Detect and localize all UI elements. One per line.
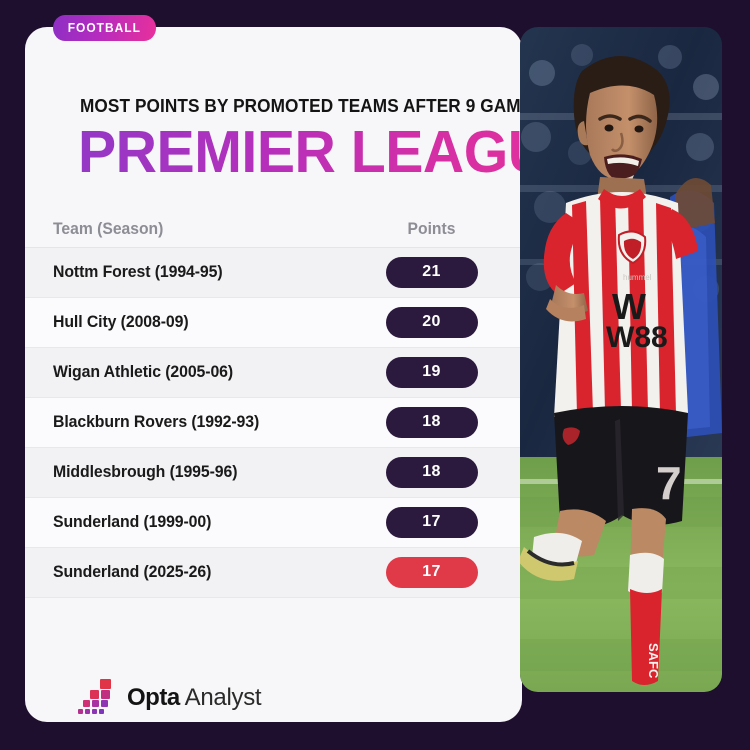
brand-name: Opta Analyst — [127, 684, 261, 715]
brand-analyst: Analyst — [185, 684, 262, 712]
brand-logo: Opta Analyst — [78, 679, 261, 715]
svg-text:hummel: hummel — [623, 273, 652, 282]
team-name: Sunderland (1999-00) — [53, 513, 356, 532]
column-header-points: Points — [372, 220, 491, 239]
team-name: Sunderland (2025-26) — [53, 563, 356, 582]
brand-opta: Opta — [127, 684, 180, 712]
points-badge: 18 — [386, 457, 478, 488]
svg-text:W88: W88 — [606, 321, 668, 354]
points-badge: 19 — [386, 357, 478, 388]
svg-text:7: 7 — [656, 457, 682, 509]
points-badge: 18 — [386, 407, 478, 438]
points-cell: 20 — [369, 307, 494, 338]
points-cell: 21 — [369, 257, 494, 288]
team-name: Middlesbrough (1995-96) — [53, 463, 356, 482]
points-cell: 18 — [369, 407, 494, 438]
points-cell: 17 — [369, 557, 494, 588]
stats-table: Team (Season) Points Nottm Forest (1994-… — [25, 212, 522, 598]
table-row-highlighted: Sunderland (2025-26) 17 — [25, 548, 522, 598]
player-photo: hummel W W88 7 SAFC — [520, 27, 722, 692]
points-cell: 19 — [369, 357, 494, 388]
team-name: Hull City (2008-09) — [53, 313, 356, 332]
points-badge: 17 — [386, 507, 478, 538]
points-cell: 17 — [369, 507, 494, 538]
table-row: Wigan Athletic (2005-06) 19 — [25, 348, 522, 398]
points-badge: 20 — [386, 307, 478, 338]
column-header-team: Team (Season) — [53, 220, 353, 239]
page-title: PREMIER LEAGUE — [78, 123, 522, 182]
opta-staircase-icon — [78, 679, 118, 715]
team-name: Blackburn Rovers (1992-93) — [53, 413, 356, 432]
team-name: Nottm Forest (1994-95) — [53, 263, 356, 282]
table-row: Blackburn Rovers (1992-93) 18 — [25, 398, 522, 448]
points-cell: 18 — [369, 457, 494, 488]
points-badge: 21 — [386, 257, 478, 288]
table-header-row: Team (Season) Points — [25, 212, 522, 248]
content-card: MOST POINTS BY PROMOTED TEAMS AFTER 9 GA… — [25, 27, 522, 722]
table-row: Sunderland (1999-00) 17 — [25, 498, 522, 548]
table-row: Hull City (2008-09) 20 — [25, 298, 522, 348]
subtitle: MOST POINTS BY PROMOTED TEAMS AFTER 9 GA… — [80, 95, 489, 117]
points-badge-highlighted: 17 — [386, 557, 478, 588]
svg-text:SAFC: SAFC — [646, 643, 661, 679]
table-row: Middlesbrough (1995-96) 18 — [25, 448, 522, 498]
category-badge-football: FOOTBALL — [53, 15, 156, 41]
team-name: Wigan Athletic (2005-06) — [53, 363, 356, 382]
infographic-canvas: MOST POINTS BY PROMOTED TEAMS AFTER 9 GA… — [0, 0, 750, 750]
table-row: Nottm Forest (1994-95) 21 — [25, 248, 522, 298]
